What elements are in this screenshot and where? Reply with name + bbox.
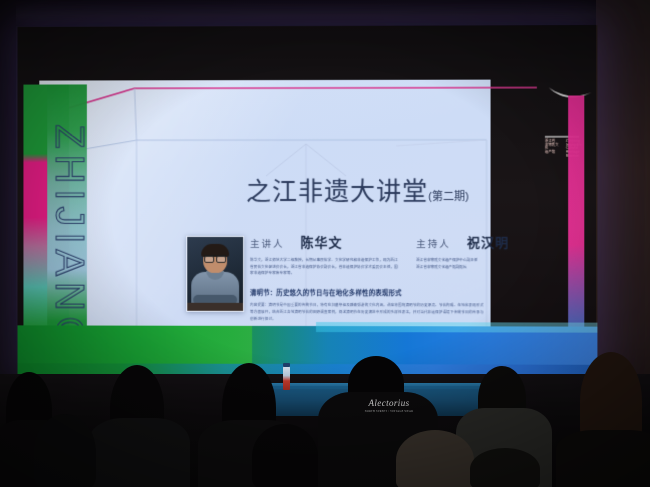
audience-head [252, 424, 318, 487]
poster-title: 之江非遗大讲堂(第二期) [246, 172, 469, 208]
screenshot-root: 浙江省 非物质文化 遗产馆 Zhejiang Intangible Cultur… [0, 0, 650, 487]
band-cyan [316, 322, 597, 333]
host-bio-line2: 浙江省非物质文化遗产馆副馆长 [416, 264, 527, 271]
speaker-name: 陈华文 [301, 232, 343, 251]
topic-heading: 清明节：历史悠久的节日与在地化多样性的表现形式 [250, 288, 490, 297]
tshirt-script-text: Alectorius [356, 398, 422, 408]
audience-head [470, 448, 540, 487]
poster-title-main: 之江非遗大讲堂 [246, 178, 428, 206]
tshirt-sub-text: NORTH STREET / VINTAGE WEAR [356, 410, 422, 415]
host-block: 主持人 祝汉明 浙江省非物质文化遗产保护中心副主任 浙江省非物质文化遗产馆副馆长 [416, 232, 577, 271]
audience-head [34, 414, 96, 487]
audience-head [396, 430, 474, 487]
host-name: 祝汉明 [467, 232, 509, 251]
led-screen: 浙江省 非物质文化 遗产馆 Zhejiang Intangible Cultur… [18, 25, 598, 379]
topic-block: 清明节：历史悠久的节日与在地化多样性的表现形式 内容提要：清明节是中国重要的传统… [250, 288, 490, 323]
logo-cn-line3: 遗产馆 [545, 151, 562, 155]
water-bottle-cap [283, 363, 290, 367]
poster-title-suffix: (第二期) [428, 191, 469, 203]
speaker-role-label: 主讲人 [250, 236, 284, 250]
host-role-label: 主持人 [416, 236, 451, 250]
speaker-photo [186, 236, 244, 312]
topic-body: 内容提要：清明节是中国重要的传统节日，特有在扫墓祭祖及踏青郊游的文化内涵。讲座将… [250, 302, 486, 323]
water-bottle [283, 366, 290, 390]
tshirt-graphic: Alectorius NORTH STREET / VINTAGE WEAR [356, 398, 422, 415]
speaker-bio: 陈华文，浙江师范大学二级教授，长期从事民俗学、文化学研究和非遗保护工作，现为浙江… [250, 257, 400, 277]
audience-body [556, 430, 650, 487]
audience-body [88, 418, 190, 487]
ceiling [0, 0, 650, 26]
